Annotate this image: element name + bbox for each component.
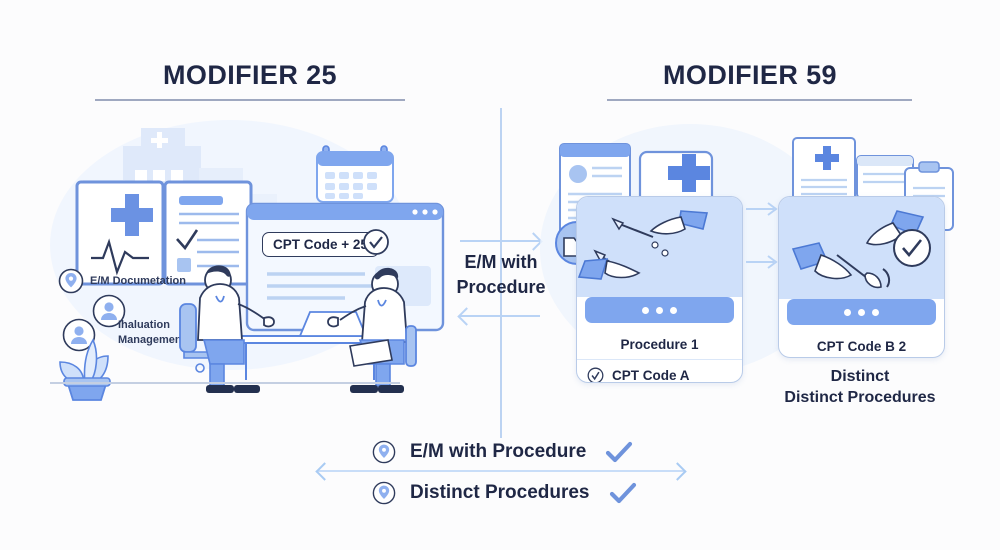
center-label-line2: Procedure bbox=[456, 277, 545, 297]
check-icon bbox=[610, 483, 636, 503]
summary-label: E/M with Procedure bbox=[410, 441, 586, 463]
card-header-label: Procedure 1 bbox=[620, 337, 698, 352]
floor-line bbox=[50, 382, 400, 384]
pin-icon bbox=[372, 440, 396, 464]
dot-icon bbox=[858, 309, 865, 316]
pin-icon bbox=[58, 268, 84, 294]
title-rule-right bbox=[607, 99, 912, 101]
arrow-right-icon bbox=[460, 240, 540, 242]
page-title-right: MODIFIER 59 bbox=[600, 60, 900, 91]
hands-instruments-icon bbox=[577, 197, 742, 297]
summary-row-em: E/M with Procedure bbox=[372, 440, 632, 464]
check-circle-icon bbox=[587, 367, 604, 384]
title-rule-left bbox=[95, 99, 405, 101]
procedure-card-left[interactable]: Procedure 1 CPT Code A CPT Code A bbox=[576, 196, 743, 383]
plant-icon bbox=[46, 330, 126, 402]
check-icon bbox=[606, 442, 632, 462]
dot-icon bbox=[872, 309, 879, 316]
summary-label: Distinct Procedures bbox=[410, 482, 590, 504]
distinct-caption: Distinct Distinct Procedures bbox=[758, 366, 962, 408]
summary-row-distinct: Distinct Procedures bbox=[372, 481, 636, 505]
procedure-card-right[interactable]: CPT Code Β 2 E CPT Code B + 59 bbox=[778, 196, 945, 358]
dot-icon bbox=[670, 307, 677, 314]
card-header-row: Procedure 1 bbox=[577, 329, 742, 360]
arrow-right-icon bbox=[746, 255, 780, 269]
dot-icon bbox=[642, 307, 649, 314]
card-strip bbox=[787, 299, 936, 325]
doctor-icon bbox=[160, 240, 445, 400]
modifier-25-illustration: CPT Code + 25 E/M Documetation Ihaluatio… bbox=[40, 120, 460, 410]
dot-icon bbox=[656, 307, 663, 314]
center-label-line1: E/M with bbox=[465, 252, 538, 272]
calendar-icon bbox=[315, 142, 401, 208]
card-row[interactable]: CPT Code A bbox=[577, 360, 742, 383]
summary-double-arrow bbox=[318, 470, 684, 472]
modifier-59-illustration: Procedure 1 CPT Code A CPT Code A bbox=[540, 120, 970, 420]
card-strip bbox=[585, 297, 734, 323]
card-header-label: CPT Code Β 2 bbox=[817, 339, 906, 354]
arrow-left-icon bbox=[460, 315, 540, 317]
distinct-caption-line1: Distinct bbox=[831, 368, 890, 385]
dot-icon bbox=[844, 309, 851, 316]
infographic-canvas: MODIFIER 25 MODIFIER 59 E/M with Procedu… bbox=[0, 0, 1000, 550]
pin-icon bbox=[372, 481, 396, 505]
arrow-right-icon bbox=[746, 202, 780, 216]
check-badge-icon bbox=[892, 228, 932, 268]
page-title-left: MODIFIER 25 bbox=[100, 60, 400, 91]
distinct-caption-line2: Distinct Procedures bbox=[784, 389, 935, 406]
card-header-row: CPT Code Β 2 bbox=[779, 331, 944, 358]
card-row-label: CPT Code A bbox=[612, 368, 690, 383]
